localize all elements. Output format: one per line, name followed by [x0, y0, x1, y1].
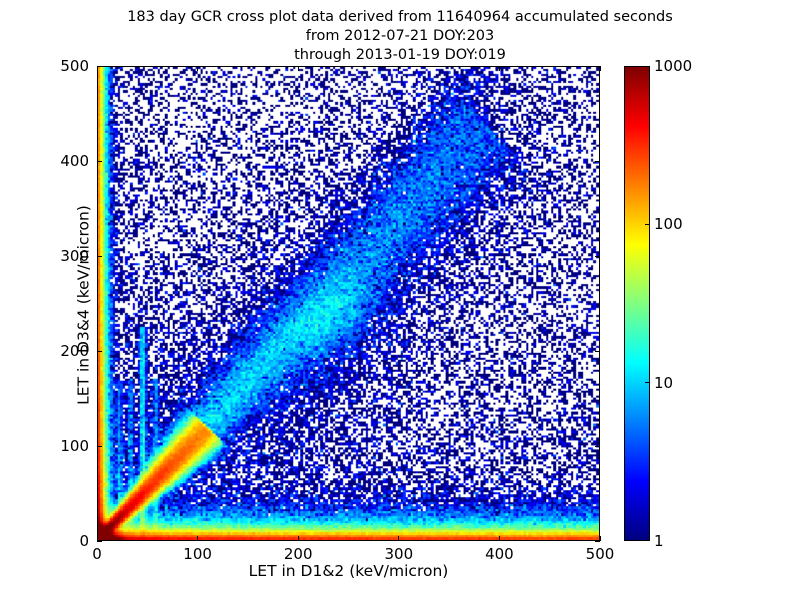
figure-canvas: 183 day GCR cross plot data derived from…	[0, 0, 800, 600]
colorbar-tick-label-1: 1	[654, 532, 664, 550]
y-tick-0	[97, 541, 102, 542]
y-tick-300	[595, 256, 600, 257]
colorbar-tick-10	[645, 382, 650, 383]
scatter-plot-data-layer	[98, 67, 599, 540]
y-tick-400	[97, 161, 102, 162]
y-tick-200	[97, 351, 102, 352]
y-tick-0	[595, 541, 600, 542]
x-tick-label-200: 200	[284, 545, 313, 563]
colorbar-tick-label-100: 100	[654, 215, 683, 233]
x-tick-400	[499, 536, 500, 541]
colorbar-tick-100	[645, 224, 650, 225]
y-tick-100	[97, 446, 102, 447]
y-tick-500	[595, 66, 600, 67]
x-tick-label-0: 0	[92, 545, 102, 563]
y-tick-500	[97, 66, 102, 67]
y-tick-400	[595, 161, 600, 162]
title-line-2: from 2012-07-21 DOY:203	[0, 27, 800, 46]
x-tick-300	[398, 536, 399, 541]
x-tick-label-400: 400	[485, 545, 514, 563]
x-axis-label: LET in D1&2 (keV/micron)	[97, 562, 600, 580]
x-tick-label-500: 500	[586, 545, 615, 563]
x-tick-400	[499, 66, 500, 71]
x-tick-300	[398, 66, 399, 71]
x-tick-label-300: 300	[384, 545, 413, 563]
y-tick-200	[595, 351, 600, 352]
colorbar-tick-label-10: 10	[654, 374, 673, 392]
y-tick-100	[595, 446, 600, 447]
x-tick-0	[97, 66, 98, 71]
scatter-plot-axes	[97, 66, 600, 541]
y-tick-300	[97, 256, 102, 257]
title-line-1: 183 day GCR cross plot data derived from…	[0, 8, 800, 27]
x-tick-200	[298, 536, 299, 541]
colorbar	[624, 66, 650, 541]
y-axis-label: LET in D3&4 (keV/micron)	[75, 68, 93, 543]
x-tick-500	[600, 66, 601, 71]
x-tick-200	[298, 66, 299, 71]
x-tick-label-100: 100	[183, 545, 212, 563]
x-tick-100	[197, 66, 198, 71]
colorbar-tick-label-1000: 1000	[654, 57, 692, 75]
x-tick-100	[197, 536, 198, 541]
colorbar-gradient	[625, 67, 649, 540]
